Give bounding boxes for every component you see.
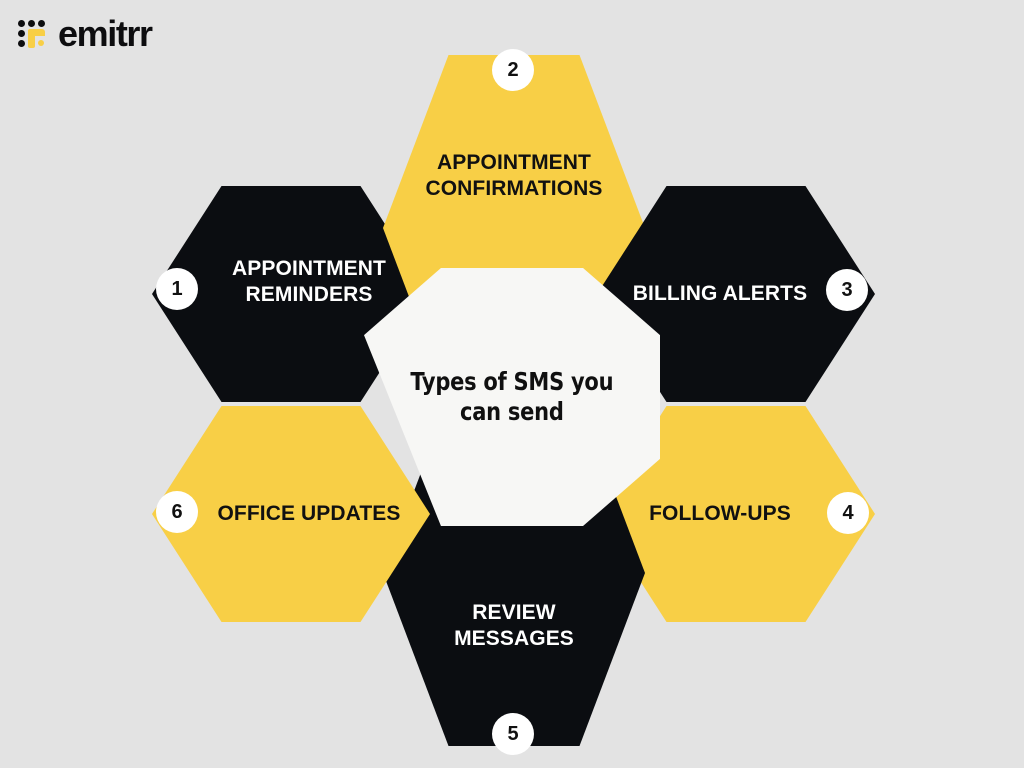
step-badge-1[interactable]: 1 <box>156 268 198 310</box>
hexagon-diagram: APPOINTMENT REMINDERS APPOINTMENT CONFIR… <box>0 0 1024 768</box>
step-badge-2[interactable]: 2 <box>492 49 534 91</box>
step-badge-5[interactable]: 5 <box>492 713 534 755</box>
hex-label: FOLLOW-UPS <box>635 501 805 527</box>
step-badge-3[interactable]: 3 <box>826 269 868 311</box>
step-badge-4[interactable]: 4 <box>827 492 869 534</box>
hex-label: BILLING ALERTS <box>619 281 821 307</box>
infographic-canvas: emitrr APPOINTMENT REMINDERS APPOINTMENT… <box>0 0 1024 768</box>
hex-label: APPOINTMENT CONFIRMATIONS <box>411 150 616 203</box>
step-badge-6[interactable]: 6 <box>156 491 198 533</box>
hex-label: APPOINTMENT REMINDERS <box>218 256 400 309</box>
hex-label: REVIEW MESSAGES <box>440 600 588 653</box>
hex-label: OFFICE UPDATES <box>203 501 414 527</box>
